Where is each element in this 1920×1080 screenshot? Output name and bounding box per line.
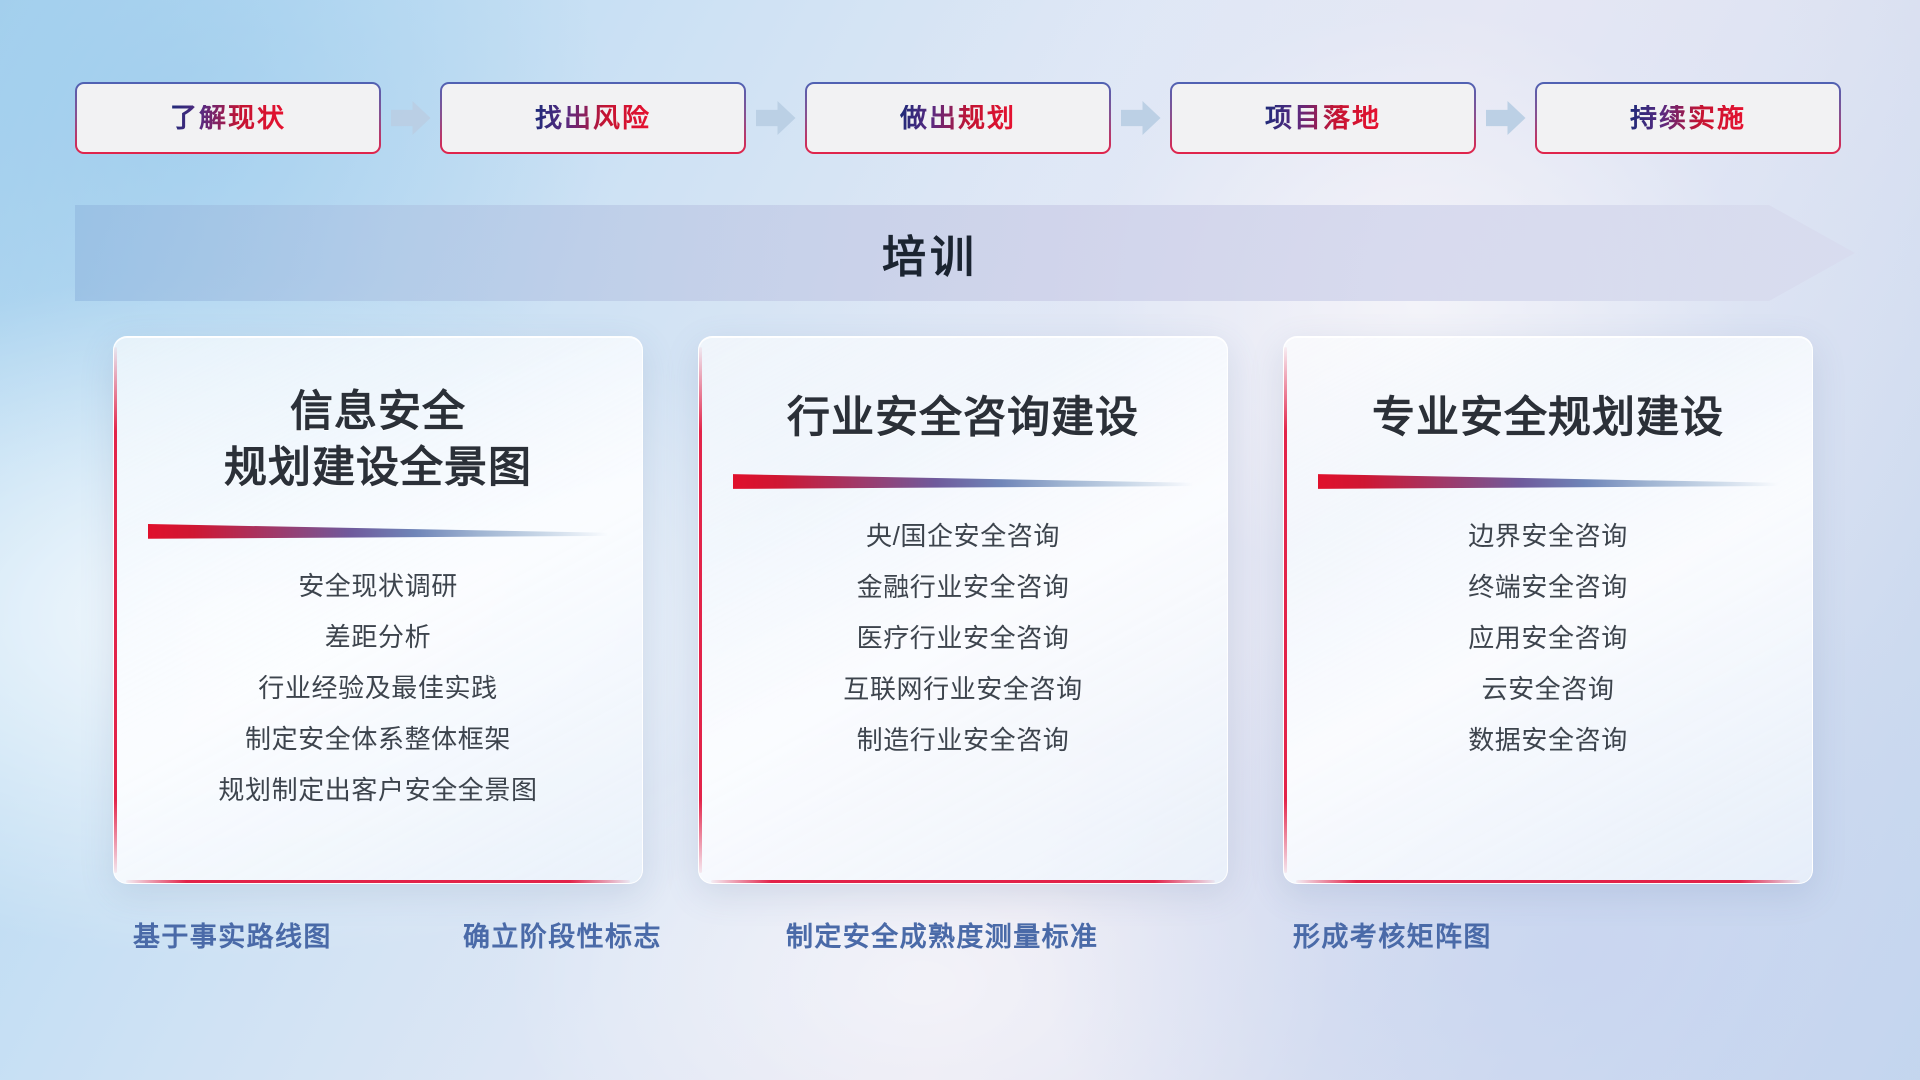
card-title-1-line2: 规划建设全景图 bbox=[144, 441, 612, 497]
list-item: 规划制定出客户安全全景图 bbox=[138, 777, 618, 803]
card-industry-security-consulting[interactable]: 行业安全咨询建设 央/国企安全咨询 金融行业安全咨询 医疗行业安全咨询 互联网行… bbox=[698, 336, 1228, 884]
step-label-3: 做出规划 bbox=[900, 105, 1016, 132]
step-label-1: 了解现状 bbox=[170, 105, 286, 132]
card-information-security-blueprint[interactable]: 信息安全 规划建设全景图 安全现状调研 差距分析 行业经验及最佳实践 制定安全体… bbox=[113, 336, 643, 884]
list-item: 行业经验及最佳实践 bbox=[138, 675, 618, 701]
step-label-2: 找出风险 bbox=[535, 105, 651, 132]
card-title-1: 信息安全 规划建设全景图 bbox=[144, 385, 612, 497]
list-item: 医疗行业安全咨询 bbox=[723, 625, 1203, 651]
card-accent-line-2 bbox=[733, 473, 1193, 489]
step-arrow-right-icon-3 bbox=[1111, 78, 1170, 158]
card-list-1: 安全现状调研 差距分析 行业经验及最佳实践 制定安全体系整体框架 规划制定出客户… bbox=[138, 573, 618, 803]
step-box-5[interactable]: 持续实施 bbox=[1535, 82, 1841, 154]
card-row: 信息安全 规划建设全景图 安全现状调研 差距分析 行业经验及最佳实践 制定安全体… bbox=[113, 336, 1813, 884]
card-accent-line-1 bbox=[148, 523, 608, 539]
card-title-3: 专业安全规划建设 bbox=[1314, 391, 1782, 447]
card-title-1-line1: 信息安全 bbox=[144, 385, 612, 441]
footnote-label-3: 制定安全成熟度测量标准 bbox=[786, 915, 1098, 954]
list-item: 云安全咨询 bbox=[1308, 676, 1788, 702]
footnote-label-2: 确立阶段性标志 bbox=[463, 915, 662, 954]
card-accent-line-3 bbox=[1318, 473, 1778, 489]
list-item: 制定安全体系整体框架 bbox=[138, 726, 618, 752]
step-arrow-right-icon-1 bbox=[381, 78, 440, 158]
step-box-3[interactable]: 做出规划 bbox=[805, 82, 1111, 154]
list-item: 边界安全咨询 bbox=[1308, 523, 1788, 549]
banner-title: 培训 bbox=[75, 205, 1855, 301]
list-item: 互联网行业安全咨询 bbox=[723, 676, 1203, 702]
step-label-5: 持续实施 bbox=[1630, 105, 1746, 132]
step-box-2[interactable]: 找出风险 bbox=[440, 82, 746, 154]
list-item: 数据安全咨询 bbox=[1308, 727, 1788, 753]
step-arrow-right-icon-2 bbox=[746, 78, 805, 158]
step-box-4[interactable]: 项目落地 bbox=[1170, 82, 1476, 154]
list-item: 差距分析 bbox=[138, 624, 618, 650]
footnote-row: 基于事实路线图 确立阶段性标志 制定安全成熟度测量标准 形成考核矩阵图 bbox=[0, 915, 1920, 967]
training-banner: 培训 bbox=[75, 205, 1855, 301]
card-list-2: 央/国企安全咨询 金融行业安全咨询 医疗行业安全咨询 互联网行业安全咨询 制造行… bbox=[723, 523, 1203, 753]
list-item: 制造行业安全咨询 bbox=[723, 727, 1203, 753]
process-step-row: 了解现状 找出风险 做出规划 项目落地 持续实施 bbox=[75, 78, 1845, 158]
footnote-label-1: 基于事实路线图 bbox=[133, 915, 332, 954]
card-title-2: 行业安全咨询建设 bbox=[729, 391, 1197, 447]
slide-stage: 了解现状 找出风险 做出规划 项目落地 持续实施 培训 信息安全 规划建设全景图 bbox=[0, 0, 1920, 1080]
step-label-4: 项目落地 bbox=[1265, 105, 1381, 132]
list-item: 金融行业安全咨询 bbox=[723, 574, 1203, 600]
step-arrow-right-icon-4 bbox=[1476, 78, 1535, 158]
list-item: 安全现状调研 bbox=[138, 573, 618, 599]
list-item: 应用安全咨询 bbox=[1308, 625, 1788, 651]
card-professional-security-planning[interactable]: 专业安全规划建设 边界安全咨询 终端安全咨询 应用安全咨询 云安全咨询 数据安全… bbox=[1283, 336, 1813, 884]
list-item: 央/国企安全咨询 bbox=[723, 523, 1203, 549]
card-list-3: 边界安全咨询 终端安全咨询 应用安全咨询 云安全咨询 数据安全咨询 bbox=[1308, 523, 1788, 753]
footnote-label-4: 形成考核矩阵图 bbox=[1293, 915, 1492, 954]
list-item: 终端安全咨询 bbox=[1308, 574, 1788, 600]
step-box-1[interactable]: 了解现状 bbox=[75, 82, 381, 154]
